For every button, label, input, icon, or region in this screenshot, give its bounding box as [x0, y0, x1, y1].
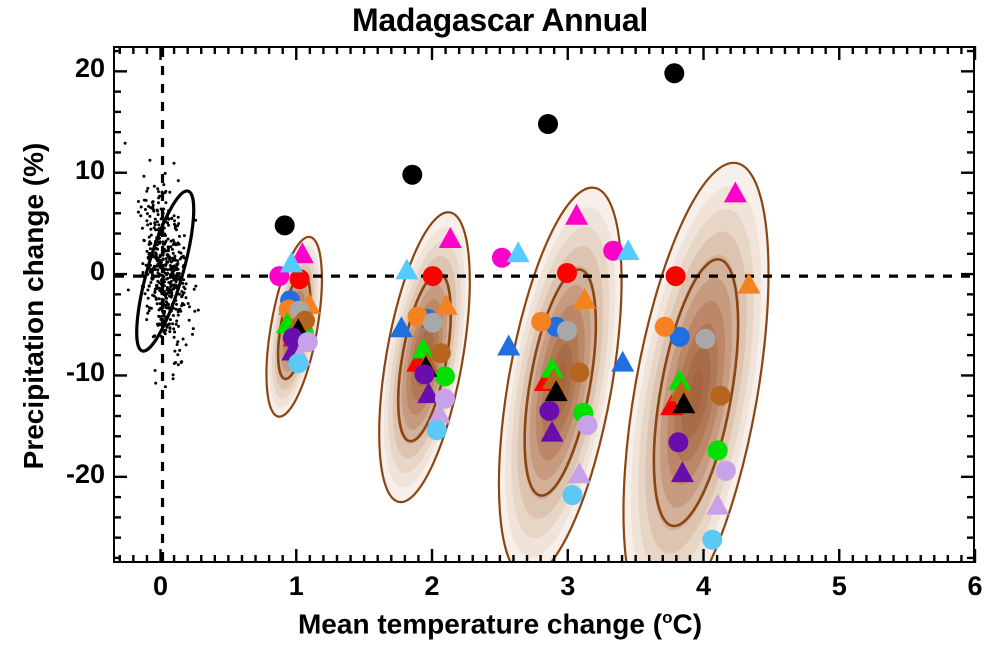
red-circle-point	[423, 266, 443, 286]
black-circle-outliers	[275, 63, 685, 235]
black-circle-outliers-point	[402, 165, 422, 185]
orange-circle-point	[531, 312, 551, 332]
brown-circle-point	[569, 362, 589, 382]
purple-circle-point	[415, 364, 435, 384]
x-tick-label: 6	[945, 571, 1000, 602]
page-title: Madagascar Annual	[0, 2, 1000, 39]
x-tick-label: 4	[674, 571, 734, 602]
green-circle-point	[708, 440, 728, 460]
x-axis-label-main: Mean temperature change (	[298, 608, 662, 639]
black-circle-outliers-point	[538, 114, 558, 134]
cyan-circle-point	[288, 353, 308, 373]
y-tick-label: 0	[0, 256, 105, 287]
x-tick-label: 0	[131, 571, 191, 602]
green-circle-point	[435, 366, 455, 386]
brown-circle-point	[710, 386, 730, 406]
brown-circle-point	[431, 343, 451, 363]
chart-root: Madagascar Annual Precipitation change (…	[0, 0, 1000, 652]
lightpurple-circle-point	[716, 461, 736, 481]
x-tick-label: 5	[809, 571, 869, 602]
gray-circle-point	[557, 321, 577, 341]
y-tick-label: 20	[0, 53, 105, 84]
x-axis-label: Mean temperature change (oC)	[0, 608, 1000, 640]
y-tick-label: -10	[0, 357, 105, 388]
plot-area	[113, 46, 975, 563]
brown-triangle	[284, 316, 693, 401]
x-tick-label: 1	[266, 571, 326, 602]
cyan-circle-point	[702, 530, 722, 550]
plot-frame	[113, 46, 975, 563]
orange-circle-point	[655, 317, 675, 337]
y-tick-label: -20	[0, 459, 105, 490]
gray-circle-point	[696, 329, 716, 349]
y-axis-label: Precipitation change (%)	[18, 36, 50, 576]
x-axis-label-tail: C)	[672, 608, 702, 639]
black-circle-outliers-point	[275, 215, 295, 235]
purple-circle-point	[668, 432, 688, 452]
lightblue-triangle-point	[507, 241, 530, 262]
red-circle-point	[557, 263, 577, 283]
x-tick-label: 2	[402, 571, 462, 602]
cyan-circle-point	[563, 485, 583, 505]
scatter-canvas	[115, 48, 975, 563]
green-triangle	[276, 312, 691, 390]
black-circle-outliers-point	[664, 63, 684, 83]
x-tick-label: 3	[538, 571, 598, 602]
y-tick-label: 10	[0, 155, 105, 186]
red-circle-point	[666, 266, 686, 286]
magenta-circle-point	[492, 248, 512, 268]
cyan-circle-point	[427, 420, 447, 440]
gray-circle-point	[423, 313, 443, 333]
lightpurple-circle-point	[577, 415, 597, 435]
degree-symbol: o	[662, 608, 672, 627]
blue-circle	[280, 290, 690, 347]
purple-circle-point	[539, 401, 559, 421]
